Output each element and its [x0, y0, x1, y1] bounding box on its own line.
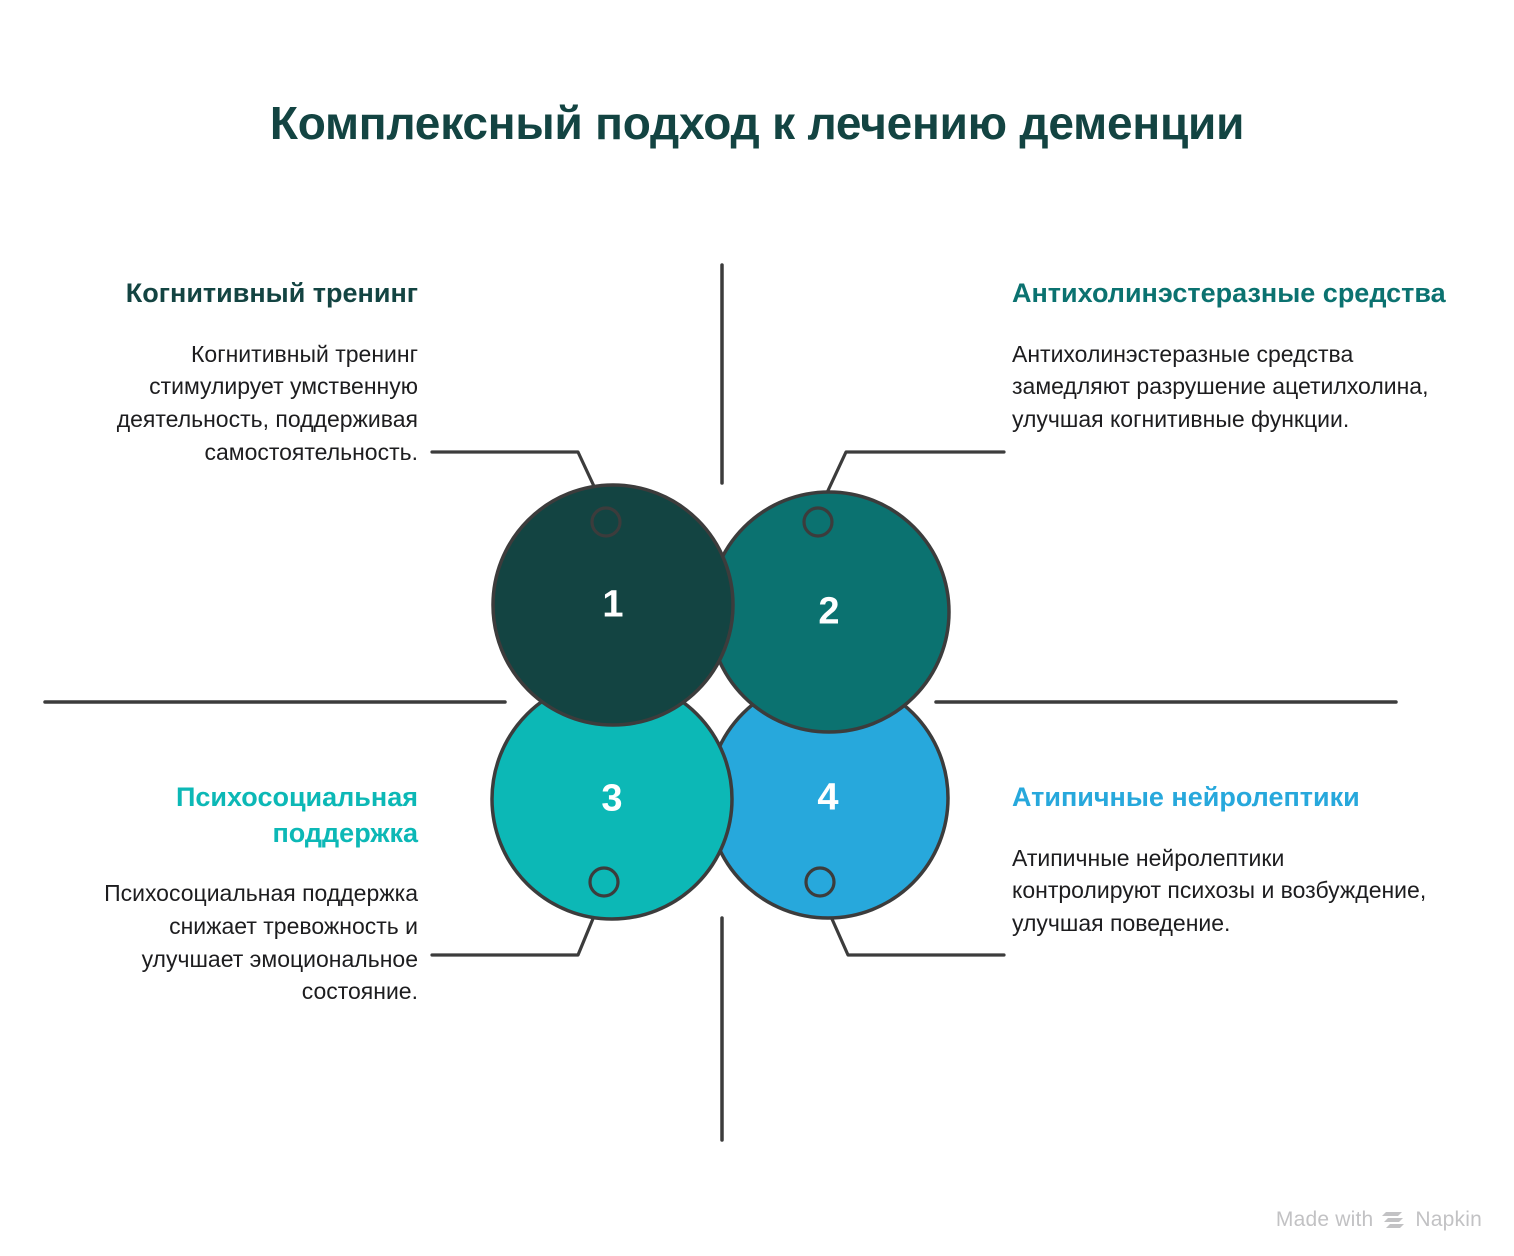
quadrant-4-body: Атипичные нейролептики контролируют псих…: [1012, 842, 1432, 940]
watermark-brand-label: Napkin: [1415, 1208, 1482, 1232]
quadrant-4-heading: Атипичные нейролептики: [1012, 780, 1432, 816]
venn-circle-label-4: 4: [798, 777, 858, 820]
quadrant-4: Атипичные нейролептики Атипичные нейроле…: [1012, 780, 1432, 940]
quadrant-3-heading: Психосоциальная поддержка: [68, 780, 418, 851]
venn-diagram-artwork: [0, 0, 1514, 1256]
quadrant-1-body: Когнитивный тренинг стимулирует умственн…: [78, 338, 418, 469]
watermark-made-with-label: Made with: [1276, 1208, 1374, 1232]
quadrant-1: Когнитивный тренинг Когнитивный тренинг …: [78, 276, 418, 468]
quadrant-1-heading: Когнитивный тренинг: [78, 276, 418, 312]
quadrant-3: Психосоциальная поддержка Психосоциальна…: [68, 780, 418, 1008]
quadrant-2: Антихолинэстеразные средства Антихолинэс…: [1012, 276, 1450, 436]
venn-circle-label-1: 1: [583, 584, 643, 627]
venn-circles: [492, 485, 949, 919]
venn-circle-label-3: 3: [582, 778, 642, 821]
quadrant-2-body: Антихолинэстеразные средства замедляют р…: [1012, 338, 1450, 436]
napkin-watermark: Made with Napkin: [1276, 1208, 1482, 1232]
quadrant-3-body: Психосоциальная поддержка снижает тревож…: [68, 877, 418, 1008]
venn-circle-label-2: 2: [799, 591, 859, 634]
napkin-stripes-icon: [1382, 1209, 1406, 1231]
diagram-canvas: Комплексный подход к лечению деменции: [0, 0, 1514, 1256]
quadrant-2-heading: Антихолинэстеразные средства: [1012, 276, 1450, 312]
